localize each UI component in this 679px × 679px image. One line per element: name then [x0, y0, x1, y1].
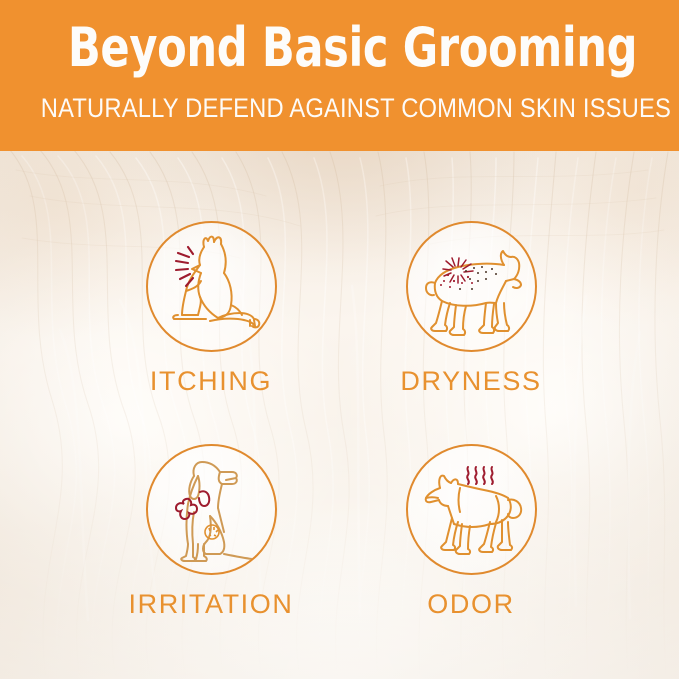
page-title: Beyond Basic Grooming	[68, 17, 611, 79]
dog-scratching-icon	[146, 221, 277, 352]
dog-dry-flaky-skin-icon	[406, 221, 537, 352]
issue-item-irritation: IRRITATION	[91, 444, 331, 619]
issue-label-itching: ITCHING	[91, 366, 331, 396]
promo-poster: Beyond Basic Grooming NATURALLY DEFEND A…	[0, 0, 679, 679]
issue-item-itching: ITCHING	[91, 221, 331, 396]
skin-issues-grid: ITCHING	[0, 151, 679, 679]
page-subtitle: NATURALLY DEFEND AGAINST COMMON SKIN ISS…	[41, 92, 639, 124]
issue-item-odor: ODOR	[351, 444, 591, 619]
dog-irritated-patch-icon	[146, 444, 277, 575]
issue-label-dryness: DRYNESS	[351, 366, 591, 396]
issue-item-dryness: DRYNESS	[351, 221, 591, 396]
header-banner: Beyond Basic Grooming NATURALLY DEFEND A…	[0, 0, 679, 151]
issue-label-irritation: IRRITATION	[91, 589, 331, 619]
issue-label-odor: ODOR	[351, 589, 591, 619]
dog-odor-waves-icon	[406, 444, 537, 575]
